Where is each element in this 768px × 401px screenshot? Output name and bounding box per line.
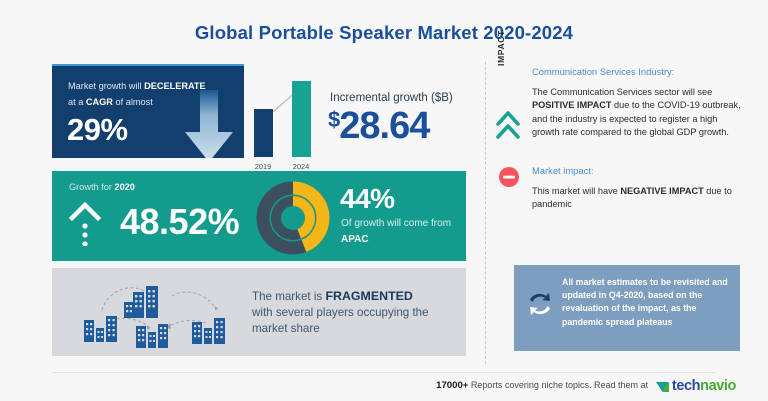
impact-block1-heading: Communication Services Industry: — [532, 66, 674, 77]
cagr-line1-pre: Market growth will — [68, 81, 144, 91]
growth-year: 2020 — [114, 182, 134, 192]
minus-circle-icon — [498, 166, 520, 188]
fragmented-pre: The market is — [252, 290, 325, 303]
footer-text: 17000+ Reports covering niche topics. Re… — [436, 380, 648, 391]
bar-chart: 2019 2024 — [248, 79, 326, 171]
growth-panel: Growth for 2020 48.52% 44% Of growth wil… — [52, 171, 466, 261]
impact-block2-pre: This market will have — [532, 186, 620, 196]
page-title: Global Portable Speaker Market 2020-2024 — [0, 22, 768, 44]
fragmented-line2: with several players occupying the — [252, 306, 429, 319]
technavio-flag-icon — [656, 380, 669, 393]
apac-region-label: APAC — [341, 234, 369, 245]
column-divider — [485, 62, 486, 364]
footer-divider — [52, 372, 716, 373]
double-chevron-up-icon — [495, 108, 521, 142]
fragmented-panel: The market is FRAGMENTED with several pl… — [52, 268, 466, 356]
impact-vertical-label: IMPACT — [496, 30, 506, 66]
up-arrow-icon — [68, 202, 102, 246]
cagr-line-2: at a CAGR of almost — [68, 97, 153, 107]
footer: 17000+ Reports covering niche topics. Re… — [0, 376, 768, 398]
growth-label-pre: Growth for — [69, 182, 114, 192]
incremental-growth-label: Incremental growth ($B) — [330, 92, 453, 104]
apac-share-value: 44% — [340, 183, 395, 215]
note-box: All market estimates to be revisited and… — [514, 265, 740, 351]
note-box-text: All market estimates to be revisited and… — [562, 276, 730, 329]
currency-symbol: $ — [328, 107, 339, 132]
fragmented-text: The market is FRAGMENTED with several pl… — [252, 288, 429, 337]
city-buildings-icon — [80, 276, 240, 348]
logo-text-part1: tech — [672, 378, 700, 394]
incremental-growth-value: $28.64 — [328, 105, 429, 148]
logo-text-part2: navio — [700, 378, 736, 394]
down-arrow-icon — [180, 90, 238, 158]
growth-value: 48.52% — [120, 201, 239, 243]
bar-label-2019: 2019 — [250, 162, 276, 171]
positive-impact-word: POSITIVE IMPACT — [532, 100, 611, 110]
refresh-arrows-icon — [526, 291, 554, 317]
apac-share-sub: Of growth will come from — [341, 218, 451, 229]
bar-label-2024: 2024 — [288, 162, 314, 171]
cagr-line2-pre: at a — [68, 97, 86, 107]
footer-caption: Reports covering niche topics. Read them… — [468, 380, 648, 390]
cagr-value: 29% — [67, 112, 128, 148]
donut-chart-icon — [255, 180, 331, 256]
impact-block1-pre: The Communication Services sector will s… — [532, 87, 712, 97]
fragmented-line3: market share — [252, 322, 320, 335]
impact-block2-heading: Market impact: — [532, 165, 593, 176]
infographic-page: Global Portable Speaker Market 2020-2024… — [0, 0, 768, 401]
right-column: IMPACT Communication Services Industry: … — [496, 62, 740, 364]
negative-impact-word: NEGATIVE IMPACT — [620, 186, 703, 196]
left-column: Market growth will DECELERATE at a CAGR … — [52, 61, 466, 366]
fragmented-word: FRAGMENTED — [325, 289, 412, 303]
technavio-wordmark: technavio — [672, 378, 736, 394]
technavio-logo[interactable]: technavio — [656, 376, 736, 396]
growth-year-label: Growth for 2020 — [69, 182, 135, 192]
bar-2019 — [254, 109, 273, 157]
cagr-line2-post: of almost — [113, 97, 153, 107]
incremental-number: 28.64 — [339, 105, 429, 147]
impact-block2-body: This market will have NEGATIVE IMPACT du… — [532, 185, 746, 212]
bar-2024 — [292, 81, 311, 157]
cagr-word: CAGR — [86, 97, 113, 107]
impact-block1-body: The Communication Services sector will s… — [532, 86, 746, 140]
cagr-panel: Market growth will DECELERATE at a CAGR … — [52, 64, 244, 158]
report-count: 17000+ — [436, 380, 468, 391]
